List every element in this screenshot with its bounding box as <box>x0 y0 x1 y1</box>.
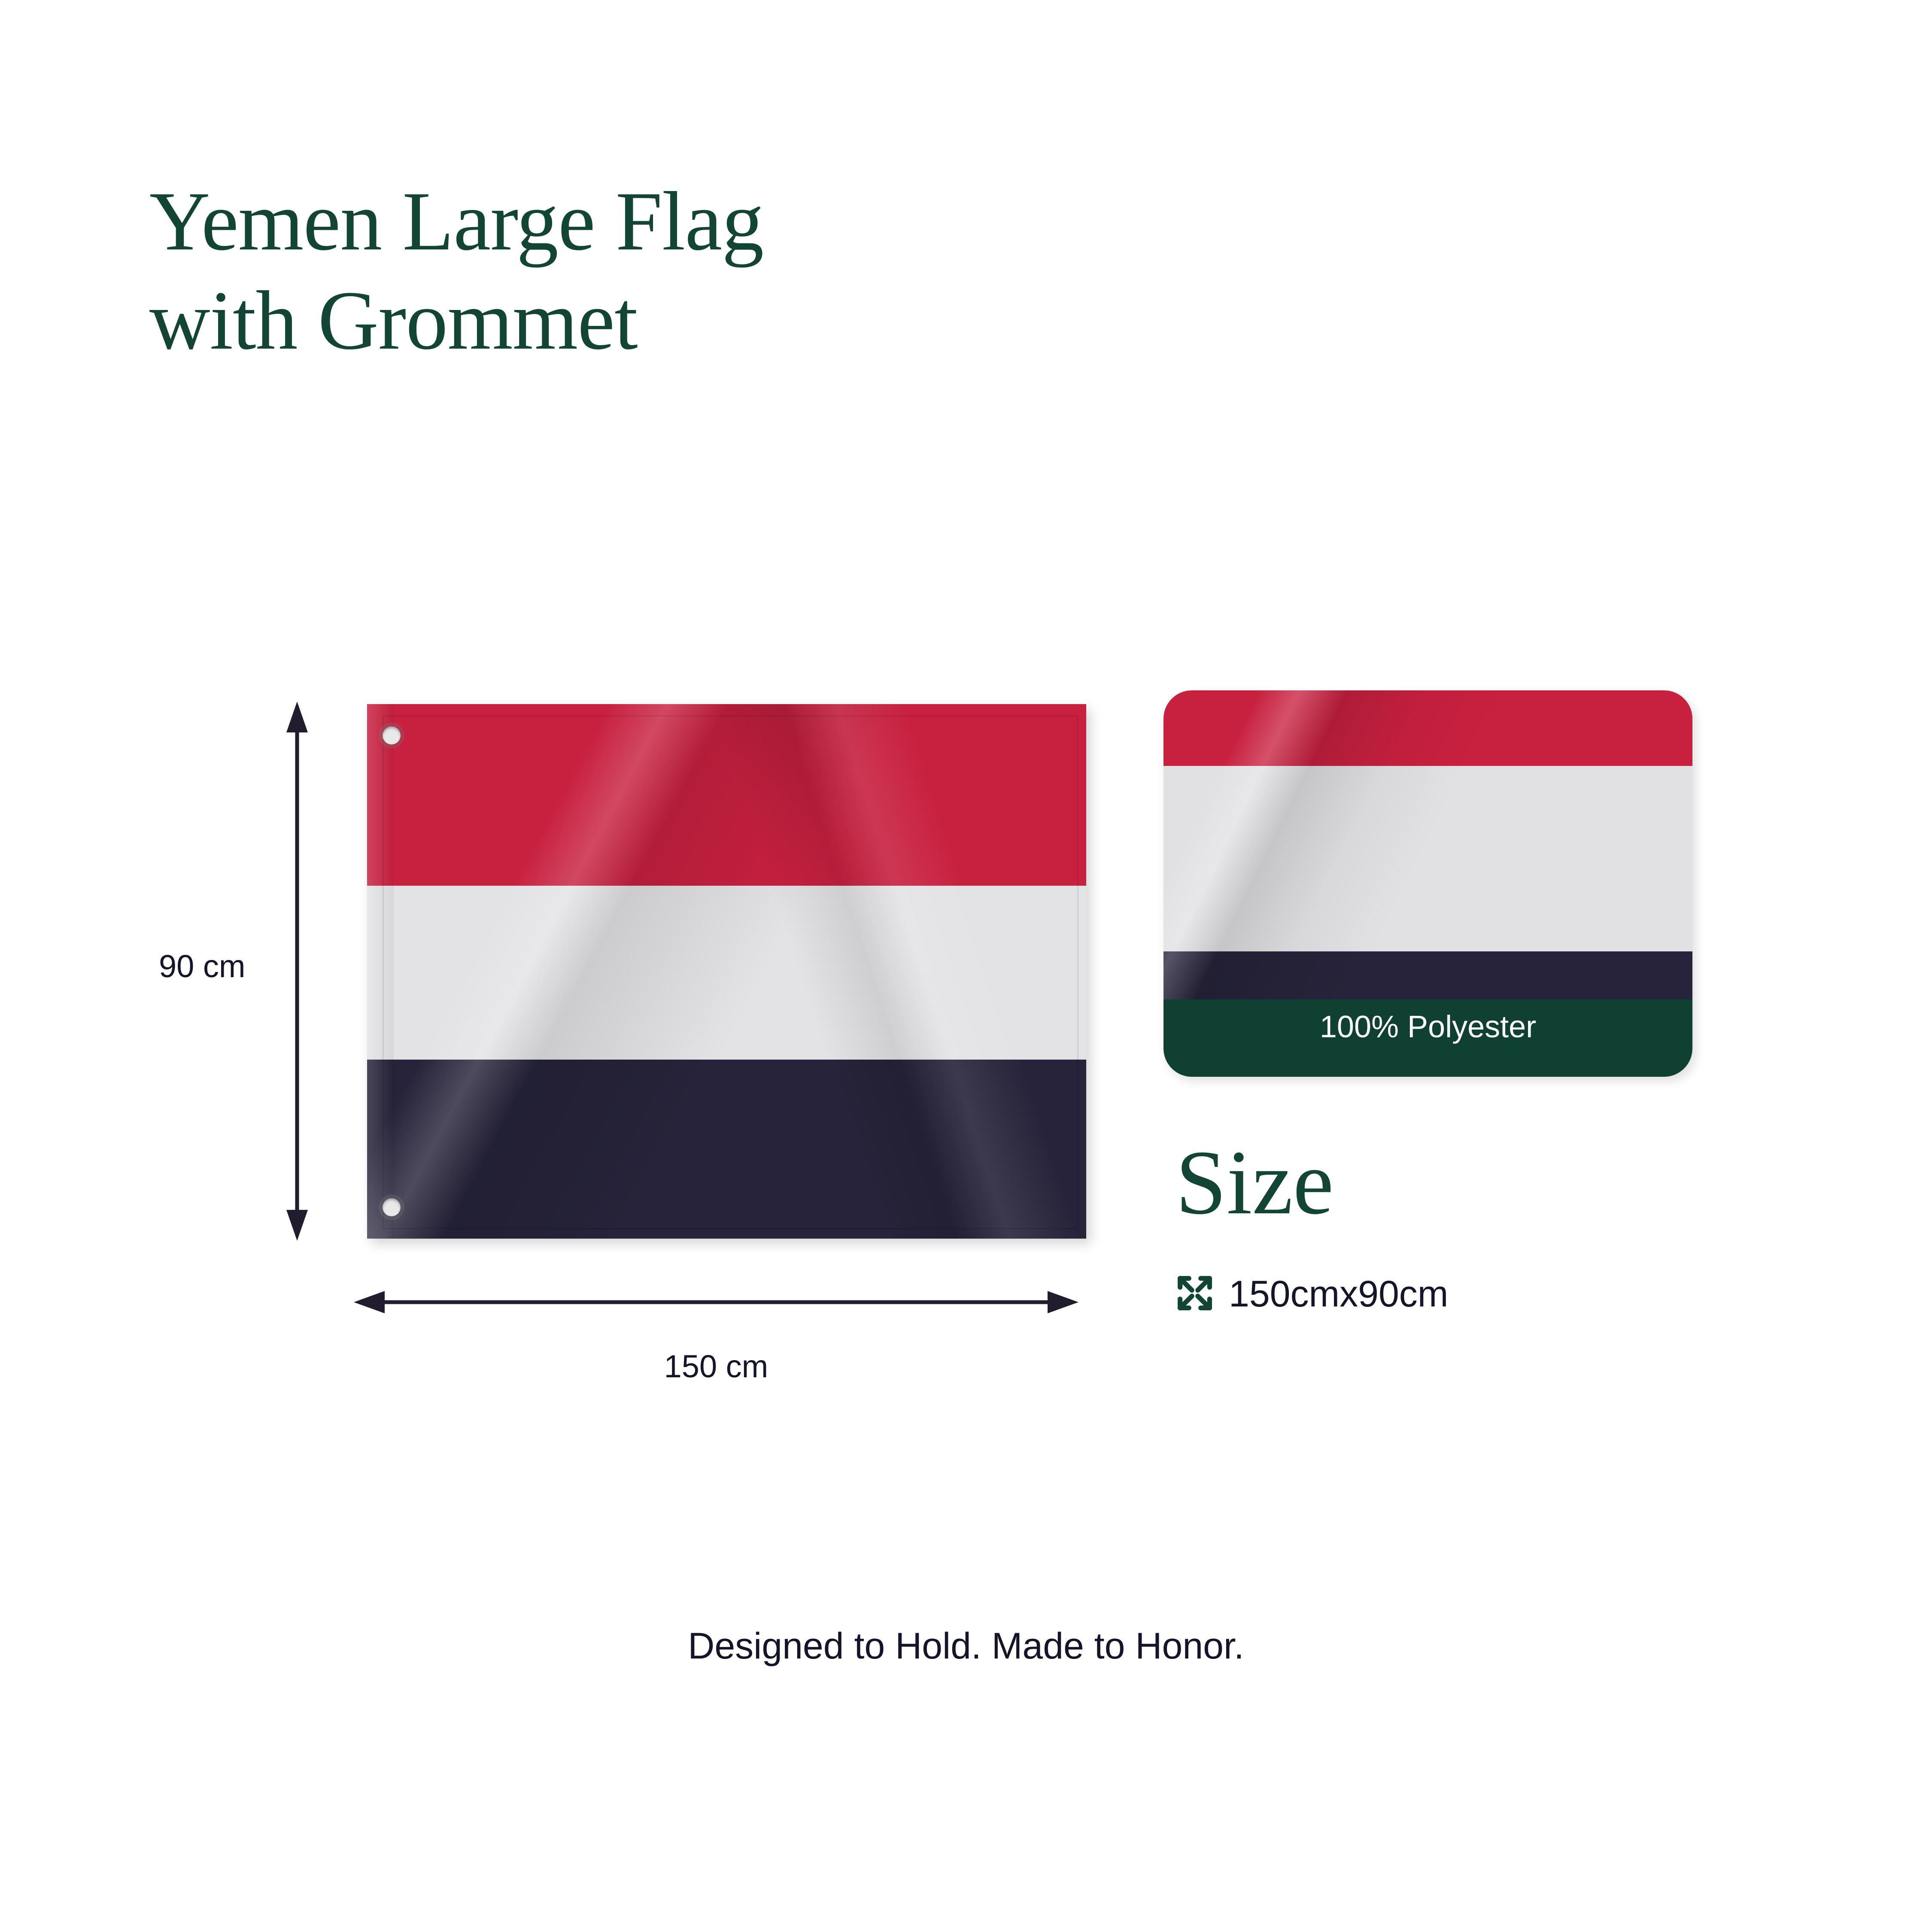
size-row: 150cmx90cm <box>1176 1273 1448 1315</box>
card-white-band <box>1163 766 1692 951</box>
tagline: Designed to Hold. Made to Honor. <box>0 1625 1932 1668</box>
grommet-bottom-left-icon <box>383 1198 401 1216</box>
size-value: 150cmx90cm <box>1229 1273 1448 1315</box>
flag-black-band <box>367 1060 1086 1239</box>
flag-white-band <box>367 886 1086 1060</box>
card-black-band <box>1163 951 1692 1000</box>
width-dimension-arrow <box>351 1287 1081 1317</box>
width-label: 150 cm <box>351 1348 1081 1385</box>
flag-red-band <box>367 704 1086 886</box>
size-heading: Size <box>1176 1137 1334 1229</box>
card-red-band <box>1163 690 1692 766</box>
height-label: 90 cm <box>159 948 246 984</box>
grommet-top-left-icon <box>383 726 401 744</box>
resize-expand-icon <box>1176 1275 1213 1314</box>
page-title: Yemen Large Flag with Grommet <box>149 172 1180 371</box>
main-flag-image <box>367 704 1086 1239</box>
material-label: 100% Polyester <box>1163 1009 1692 1045</box>
height-dimension-arrow <box>283 699 311 1243</box>
material-card: 100% Polyester <box>1163 690 1692 1077</box>
